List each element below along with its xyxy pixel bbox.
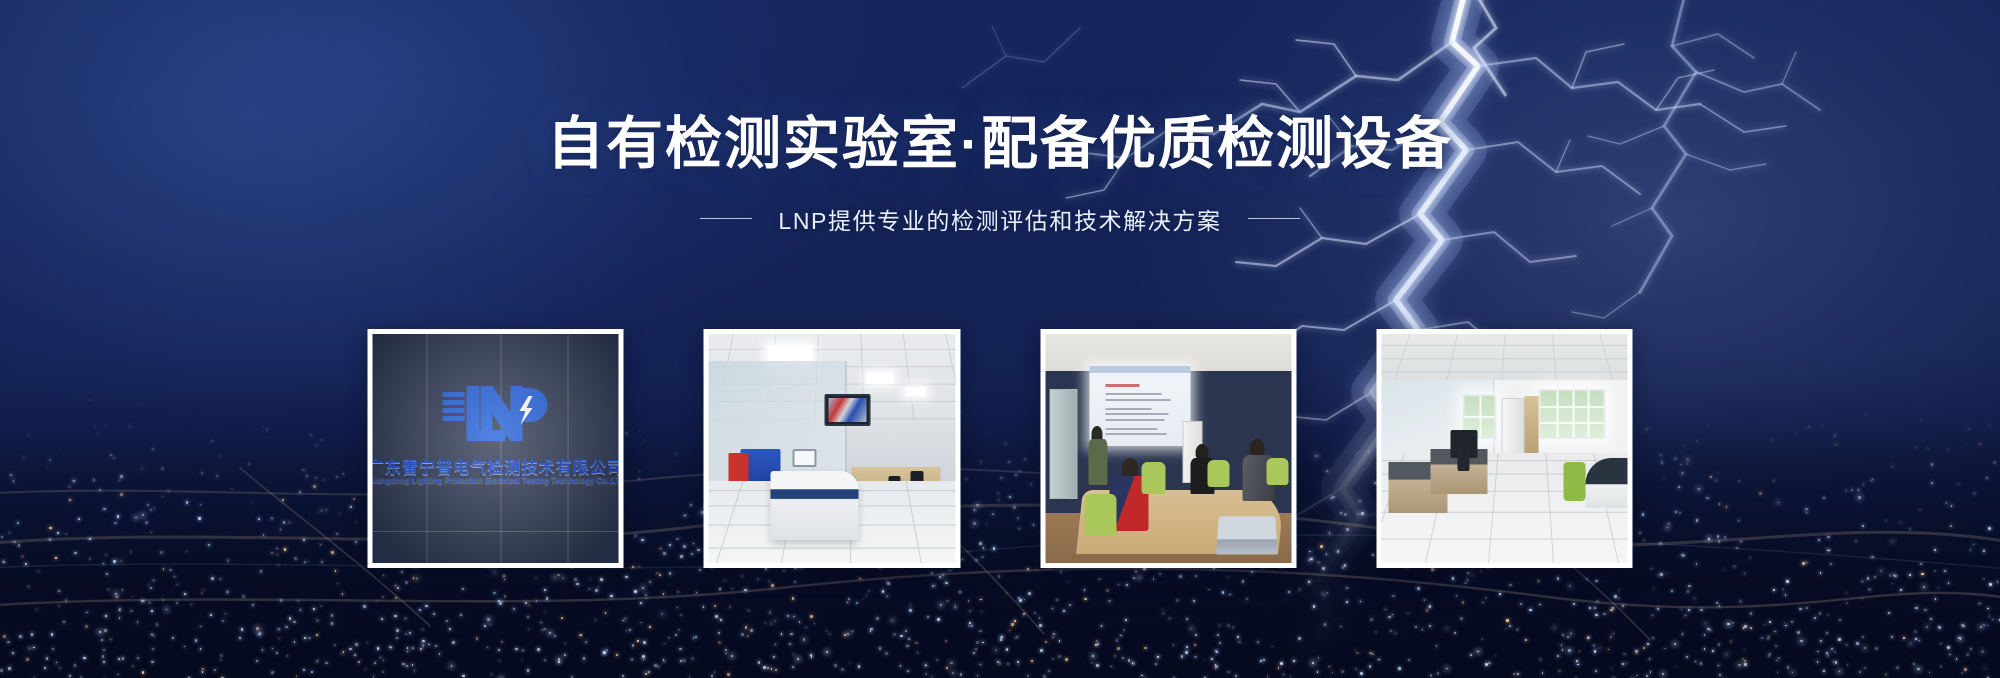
projection-screen	[1089, 366, 1190, 446]
photo-gallery: 广东雷宁普电气检测技术有限公司 Guangdong Lighting Prote…	[328, 313, 1673, 552]
headline-block: 自有检测实验室·配备优质检测设备 LNP提供专业的检测评估和技术解决方案	[0, 110, 2000, 236]
gallery-photo-office[interactable]	[1376, 329, 1632, 568]
wall-tv-icon	[824, 394, 870, 426]
rule-right-icon	[1248, 218, 1300, 219]
office-image	[1381, 334, 1627, 563]
laboratory-image	[709, 334, 955, 563]
rule-left-icon	[700, 218, 752, 219]
green-chair	[1563, 462, 1585, 501]
page-title: 自有检测实验室·配备优质检测设备	[0, 110, 2000, 180]
laptop-icon	[1216, 516, 1278, 554]
company-sign-image: 广东雷宁普电气检测技术有限公司 Guangdong Lighting Prote…	[373, 334, 619, 563]
seated-worker	[1458, 442, 1470, 472]
subtitle-row: LNP提供专业的检测评估和技术解决方案	[0, 202, 2000, 236]
gallery-photo-meeting-room[interactable]	[1040, 329, 1296, 568]
hero-banner: 自有检测实验室·配备优质检测设备 LNP提供专业的检测评估和技术解决方案	[0, 0, 2000, 678]
gallery-photo-laboratory[interactable]	[704, 329, 960, 568]
gallery-photo-company-sign[interactable]: 广东雷宁普电气检测技术有限公司 Guangdong Lighting Prote…	[368, 329, 624, 568]
meeting-room-image	[1045, 334, 1291, 563]
page-subtitle: LNP提供专业的检测评估和技术解决方案	[778, 202, 1221, 236]
